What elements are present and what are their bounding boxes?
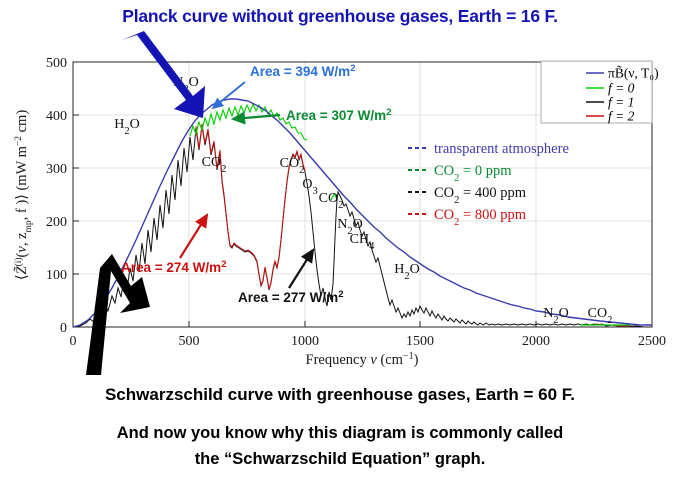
legend-label-f1: f = 1 xyxy=(608,95,634,110)
caption-explainer-line1: And now you know why this diagram is com… xyxy=(0,424,680,443)
legend-curves[interactable]: πB̃(ν, T₀) f = 0 f = 1 f = 2 xyxy=(541,61,659,124)
x-axis-title: Frequency ν (cm−1) xyxy=(306,351,419,369)
y-tick-500: 500 xyxy=(46,56,67,71)
x-tick-1000: 1000 xyxy=(291,334,319,349)
y-tick-200: 200 xyxy=(46,215,67,230)
area-co2-0ppm-label: Area = 307 W/m2 xyxy=(286,107,391,124)
area-planck-label: Area = 394 W/m2 xyxy=(250,63,355,80)
x-tick-labels: 0 500 1000 1500 2000 2500 xyxy=(70,334,667,349)
legend-label-planck: πB̃(ν, T₀) xyxy=(608,66,659,81)
y-axis-title: ⟨Z̃(i)(ν, zmp, f )⟩ (mW m−2 cm) xyxy=(13,110,34,281)
y-tick-labels: 0 100 200 300 400 500 xyxy=(46,56,67,336)
slide-canvas: Planck curve without greenhouse gases, E… xyxy=(0,0,680,488)
caption-explainer-line2: the “Schwarzschild Equation” graph. xyxy=(0,450,680,469)
x-tick-2500: 2500 xyxy=(638,334,666,349)
x-tick-2000: 2000 xyxy=(522,334,550,349)
legend-dash-label-transparent-atmosphere: transparent atmosphere xyxy=(434,141,569,157)
y-tick-0: 0 xyxy=(60,321,67,336)
x-tick-1500: 1500 xyxy=(406,334,434,349)
x-tick-0: 0 xyxy=(70,334,77,349)
x-tick-500: 500 xyxy=(179,334,200,349)
y-tick-300: 300 xyxy=(46,162,67,177)
caption-schwarzschild-bottom: Schwarzschild curve with greenhouse gase… xyxy=(0,385,680,405)
legend-label-f0: f = 0 xyxy=(608,81,635,96)
spectrum-chart: 0 100 200 300 400 500 0 500 1000 1500 20… xyxy=(0,0,680,488)
legend-label-f2: f = 2 xyxy=(608,109,635,124)
area-co2-400ppm-label: Area = 277 W/m2 xyxy=(238,289,343,306)
y-tick-100: 100 xyxy=(46,268,67,283)
y-tick-400: 400 xyxy=(46,109,67,124)
area-co2-800ppm-label: Area = 274 W/m2 xyxy=(121,259,226,276)
